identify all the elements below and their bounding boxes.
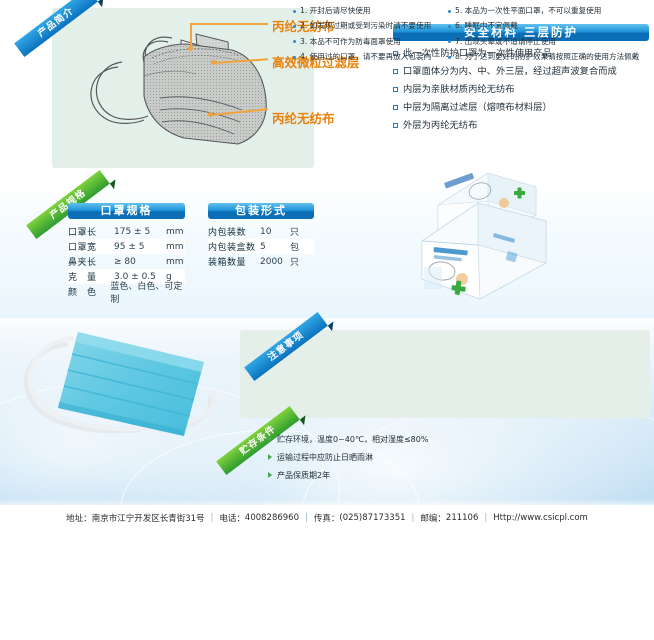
spec-key: 口罩宽: [68, 240, 114, 253]
spec-key: 装箱数量: [208, 255, 260, 268]
triangle-bullet-icon: [268, 436, 272, 442]
table-row: 内包装数 10 只: [208, 224, 314, 239]
note-item: 7. 出现头晕或不适请停止使用: [448, 38, 639, 46]
note-text: 4. 使用过的口罩，请不要再放入包装内: [300, 53, 431, 61]
spec-key: 口罩长: [68, 225, 114, 238]
product-spec-sheet: 丙纶无纺布 高效微粒过滤层 丙纶无纺布 产品简介 安全材料 三层防护 此一次性防…: [0, 0, 654, 531]
storage-text: 运输过程中应防止日晒雨淋: [277, 452, 373, 463]
table-row: 颜 色 蓝色、白色、可定制: [68, 284, 185, 299]
notes-column-left: 1. 开封后请尽快使用 2. 如发现过期或受到污染时请不要使用 3. 本品不可作…: [293, 7, 431, 68]
spec-value: ≥ 80: [114, 257, 166, 267]
dot-bullet-icon: [448, 25, 451, 28]
note-text: 3. 本品不可作为防毒面罩使用: [300, 38, 401, 46]
storage-text: 贮存环境，温度0~40℃，相对湿度≤80%: [277, 434, 428, 445]
notes-column-right: 5. 本品为一次性平面口罩，不可以重复使用 6. 睡眠中不宜佩戴 7. 出现头晕…: [448, 7, 639, 68]
mask-diagram: [56, 12, 306, 164]
note-item: 3. 本品不可作为防毒面罩使用: [293, 38, 431, 46]
dot-bullet-icon: [448, 10, 451, 13]
note-item: 1. 开封后请尽快使用: [293, 7, 431, 15]
footer-separator: |: [305, 513, 308, 523]
spec-key: 颜 色: [68, 285, 110, 298]
fax-value: (025)87173351: [339, 513, 405, 523]
note-item: 2. 如发现过期或受到污染时请不要使用: [293, 22, 431, 30]
callout-label-inner: 丙纶无纺布: [272, 108, 335, 127]
table-row: 鼻夹长 ≥ 80 mm: [68, 254, 185, 269]
phone-label: 电话：: [219, 512, 245, 524]
safety-item-text: 内层为亲肤材质丙纶无纺布: [403, 85, 515, 96]
address-label: 地址：: [66, 512, 92, 524]
dot-bullet-icon: [448, 40, 451, 43]
note-item: 5. 本品为一次性平面口罩，不可以重复使用: [448, 7, 639, 15]
package-spec-title: 包装形式: [208, 203, 314, 219]
footer: 地址： 南京市江宁开发区长青街31号 | 电话： 4008286960 | 传真…: [0, 505, 654, 531]
note-text: 5. 本品为一次性平面口罩，不可以重复使用: [455, 7, 601, 15]
spec-key: 鼻夹长: [68, 255, 114, 268]
note-item: 8. 为了达到更好的防护效果请按照正确的使用方法佩戴: [448, 53, 639, 61]
storage-item: 运输过程中应防止日晒雨淋: [268, 452, 428, 463]
spec-value: 2000: [260, 257, 290, 267]
note-text: 6. 睡眠中不宜佩戴: [455, 22, 518, 30]
spec-value: 10: [260, 227, 290, 237]
storage-conditions-list: 贮存环境，温度0~40℃，相对湿度≤80% 运输过程中应防止日晒雨淋 产品保质期…: [268, 434, 428, 488]
safety-item-text: 外层为丙纶无纺布: [403, 121, 477, 132]
safety-item: 外层为丙纶无纺布: [393, 121, 649, 132]
address-value: 南京市江宁开发区长青街31号: [92, 512, 205, 524]
blue-mask-photo: [8, 318, 240, 450]
spec-unit: 包: [290, 240, 299, 253]
package-spec-table: 包装形式 内包装数 10 只 内包装盒数 5 包 装箱数量 2000 只: [208, 203, 314, 269]
note-item: 4. 使用过的口罩，请不要再放入包装内: [293, 53, 431, 61]
storage-text: 产品保质期2年: [277, 470, 330, 481]
callout-leader-1-vertical: [190, 24, 192, 48]
storage-item: 贮存环境，温度0~40℃，相对湿度≤80%: [268, 434, 428, 445]
table-row: 内包装盒数 5 包: [208, 239, 314, 254]
note-text: 7. 出现头晕或不适请停止使用: [455, 38, 556, 46]
note-text: 2. 如发现过期或受到污染时请不要使用: [300, 22, 431, 30]
dot-bullet-icon: [293, 56, 296, 59]
square-bullet-icon: [393, 69, 398, 74]
zip-label: 邮编：: [420, 512, 446, 524]
footer-separator: |: [412, 513, 415, 523]
spec-value: 5: [260, 242, 290, 252]
zip-value: 211106: [446, 513, 478, 523]
table-row: 口罩长 175 ± 5 mm: [68, 224, 185, 239]
table-row: 装箱数量 2000 只: [208, 254, 314, 269]
dot-bullet-icon: [448, 56, 451, 59]
spec-unit: 只: [290, 255, 299, 268]
footer-contact-line: 地址： 南京市江宁开发区长青街31号 | 电话： 4008286960 | 传真…: [66, 512, 588, 524]
footer-separator: |: [484, 513, 487, 523]
spec-value: 蓝色、白色、可定制: [110, 279, 185, 305]
phone-value: 4008286960: [245, 513, 299, 523]
square-bullet-icon: [393, 105, 398, 110]
dot-bullet-icon: [293, 25, 296, 28]
footer-separator: |: [211, 513, 214, 523]
spec-key: 内包装盒数: [208, 240, 260, 253]
callout-leader-1: [190, 23, 268, 25]
product-box-photo: [418, 163, 604, 305]
spec-value: 175 ± 5: [114, 227, 166, 237]
spec-key: 内包装数: [208, 225, 260, 238]
triangle-bullet-icon: [268, 472, 272, 478]
mask-spec-title: 口罩规格: [68, 203, 185, 219]
square-bullet-icon: [393, 87, 398, 92]
website-link[interactable]: Http://www.csicpl.com: [493, 513, 588, 523]
spec-unit: 只: [290, 225, 299, 238]
table-row: 口罩宽 95 ± 5 mm: [68, 239, 185, 254]
safety-item: 内层为亲肤材质丙纶无纺布: [393, 85, 649, 96]
spec-unit: mm: [166, 242, 184, 252]
dot-bullet-icon: [293, 10, 296, 13]
square-bullet-icon: [393, 123, 398, 128]
note-item: 6. 睡眠中不宜佩戴: [448, 22, 639, 30]
spec-value: 95 ± 5: [114, 242, 166, 252]
safety-item-text: 中层为隔离过滤层（熔喷布材料层）: [403, 103, 552, 114]
safety-item: 中层为隔离过滤层（熔喷布材料层）: [393, 103, 649, 114]
note-text: 1. 开封后请尽快使用: [300, 7, 370, 15]
fax-label: 传真：: [314, 512, 340, 524]
spec-unit: mm: [166, 257, 184, 267]
triangle-bullet-icon: [268, 454, 272, 460]
spec-key: 克 量: [68, 270, 114, 283]
storage-item: 产品保质期2年: [268, 470, 428, 481]
mask-spec-table: 口罩规格 口罩长 175 ± 5 mm 口罩宽 95 ± 5 mm 鼻夹长 ≥ …: [68, 203, 185, 299]
note-text: 8. 为了达到更好的防护效果请按照正确的使用方法佩戴: [455, 53, 639, 61]
dot-bullet-icon: [293, 40, 296, 43]
spec-unit: mm: [166, 227, 184, 237]
